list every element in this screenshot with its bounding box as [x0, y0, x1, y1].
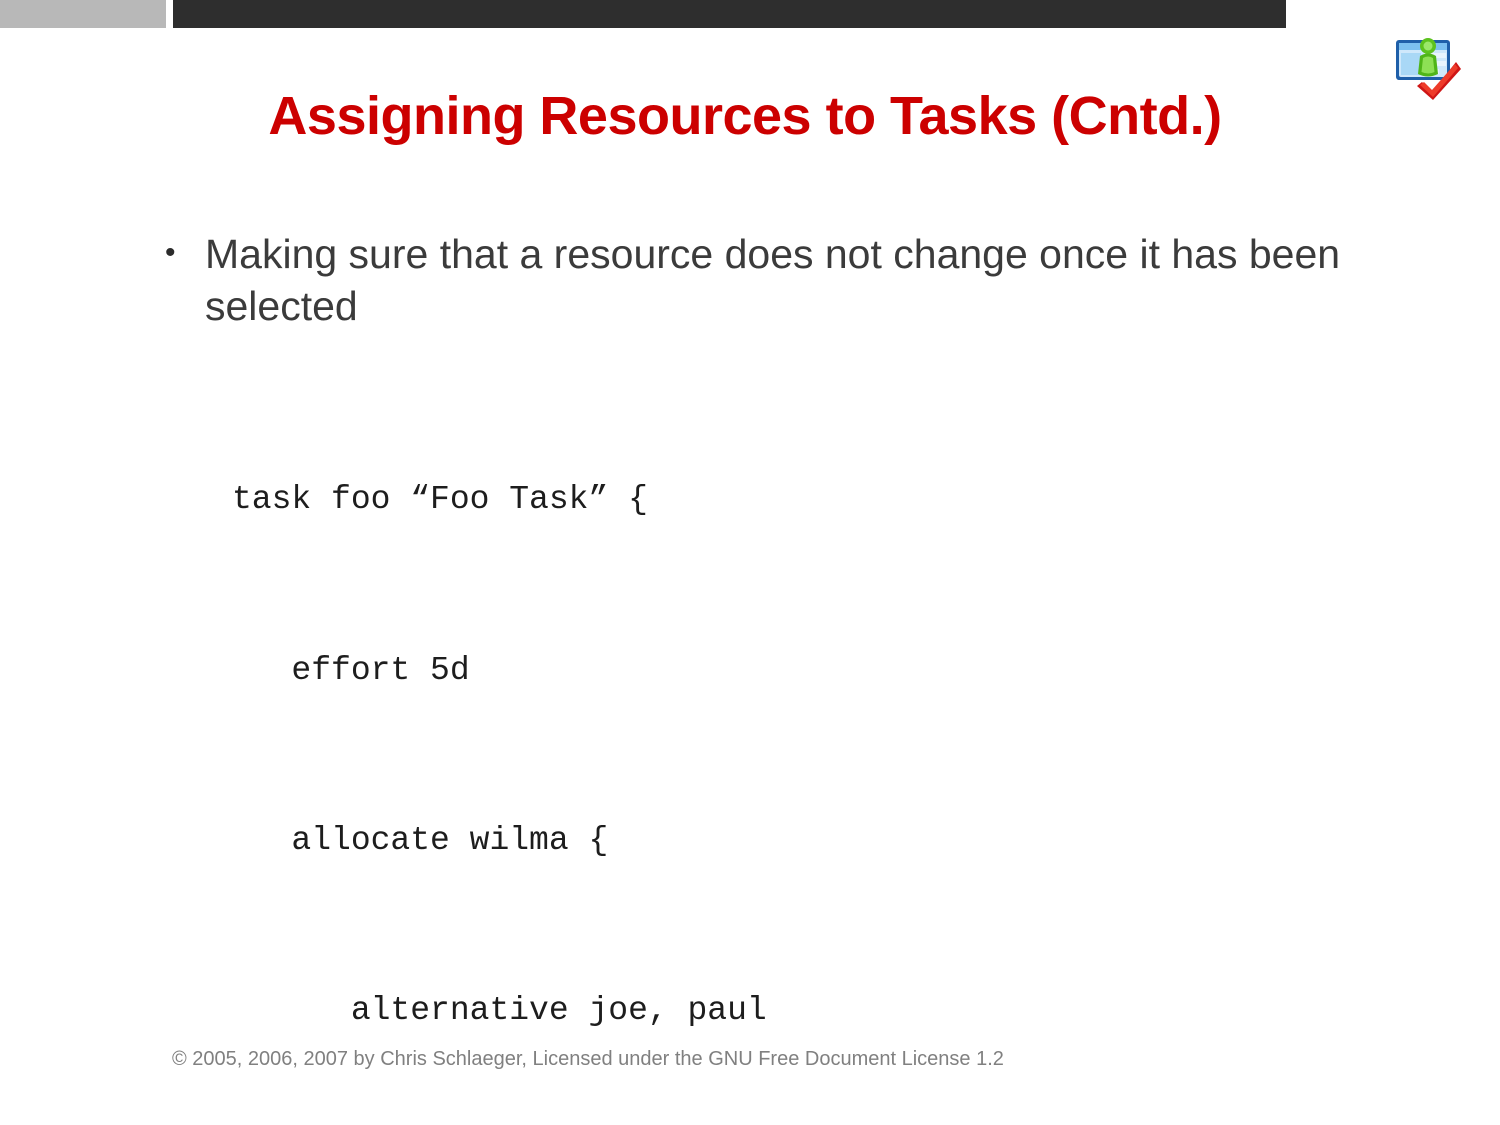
header-accent-bar-gray — [0, 0, 166, 28]
code-block: task foo “Foo Task” { effort 5d allocate… — [232, 359, 1500, 1125]
bullet-item-1: • Making sure that a resource does not c… — [165, 228, 1355, 333]
code-line-2: effort 5d — [232, 643, 1500, 700]
page-title: Assigning Resources to Tasks (Cntd.) — [100, 88, 1390, 145]
bullet-marker-icon: • — [165, 228, 205, 278]
slide-body: • Making sure that a resource does not c… — [0, 228, 1500, 1125]
header-accent-bar-dark — [173, 0, 1286, 28]
code-line-1: task foo “Foo Task” { — [232, 472, 1500, 529]
copyright-footer: © 2005, 2006, 2007 by Chris Schlaeger, L… — [172, 1046, 1004, 1072]
slide-canvas: Assigning Resources to Tasks (Cntd.) • M… — [0, 0, 1500, 1125]
code-line-3: allocate wilma { — [232, 813, 1500, 870]
bullet-item-1-text: Making sure that a resource does not cha… — [205, 228, 1355, 333]
code-line-4: alternative joe, paul — [232, 983, 1500, 1040]
resource-assignment-check-icon — [1392, 36, 1464, 100]
